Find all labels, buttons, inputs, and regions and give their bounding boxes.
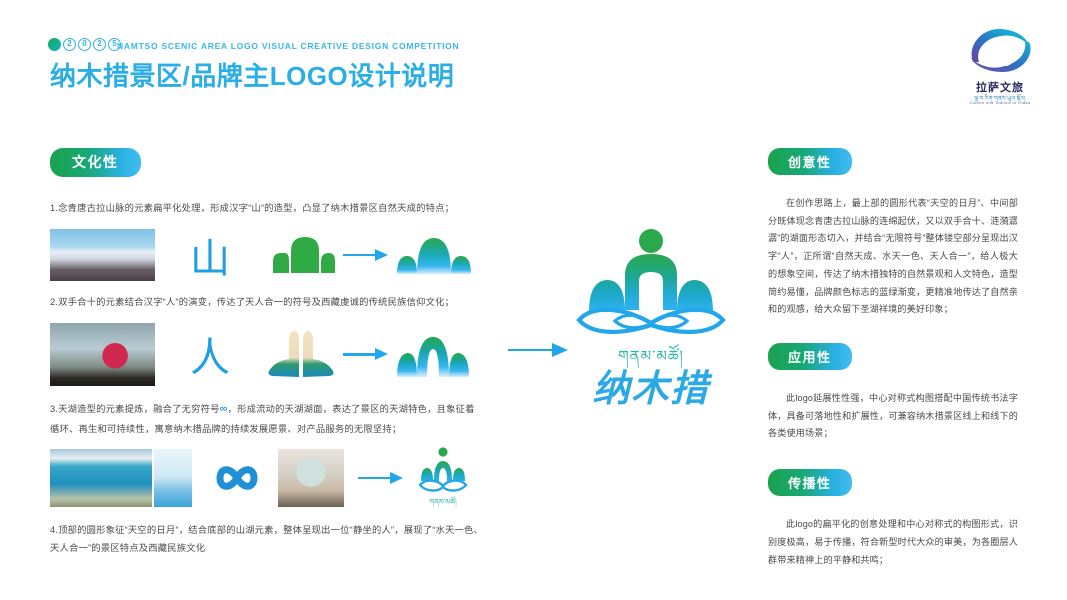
mountain-green-icon	[265, 235, 337, 275]
communication-section: 传播性 此logo的扁平化的创意处理和中心对称式的构图形式，识别度极高，易于传播…	[768, 469, 1018, 569]
infinity-symbol-inline: ∞	[220, 403, 228, 415]
applicability-section: 应用性 此logo延展性性强，中心对称式构图搭配中国传统书法字体，具备可落地性和…	[768, 343, 1018, 443]
culture-item-1-row: 山	[50, 227, 520, 282]
page-title: 纳木措景区/品牌主LOGO设计说明	[50, 56, 454, 93]
namtso-main-logo: གནམ་མཚོ། 纳木措	[563, 228, 739, 413]
arrow-head	[375, 249, 388, 261]
meditation-photo	[278, 449, 344, 507]
culture-column: 文化性 1.念青唐古拉山脉的元素扁平化处理，形成汉字“山”的造型，凸显了纳木措景…	[50, 148, 520, 557]
glyph-shan: 山	[155, 226, 265, 284]
culture-summary-line2: 天人合一”的景区特点及西藏民族文化	[50, 540, 520, 557]
sun-moon-dot	[639, 229, 663, 253]
year-badge-2025: 2 0 2 5	[48, 38, 121, 51]
applicability-body: 此logo延展性性强，中心对称式构图搭配中国传统书法字体，具备可落地性和扩展性，…	[768, 390, 1018, 443]
lhasa-logo-english: Culture and Tourism of Lhasa	[945, 101, 1055, 105]
culture-item-2-text: 2.双手合十的元素结合汉字“人”的演变，传达了天人合一的符号及西藏虔诚的传统民族…	[50, 294, 520, 311]
creativity-section: 创意性 在创作思路上，最上部的圆形代表“天空的日月”、中间部分既体现念青唐古拉山…	[768, 148, 1018, 319]
main-logo-chinese: 纳木措	[563, 358, 739, 412]
mini-logo-preview: གནམ་མཚོ།	[412, 447, 474, 509]
arrow-shaft	[508, 349, 554, 351]
section-pill-applicability: 应用性	[768, 343, 852, 370]
culture-item-2-row: 人	[50, 321, 520, 387]
snow-mountain-photo	[50, 229, 155, 281]
arrow-head	[375, 348, 388, 360]
section-pill-creativity: 创意性	[768, 148, 852, 175]
year-digit: 2	[93, 38, 106, 51]
culture-item-3-row: གནམ་མཚོ།	[50, 447, 520, 509]
infinity-lake-shape	[579, 310, 723, 332]
item3-text-b: ，形成流动的天湖湖面，表达了景区的天湖特色，且象征着	[228, 404, 475, 414]
mini-logo-tibetan: གནམ་མཚོ།	[412, 495, 474, 514]
mountain-gradient-icon	[395, 234, 471, 276]
water-drop-photo	[154, 449, 192, 507]
lhasa-swirl-icon	[963, 22, 1039, 78]
culture-summary-line1: 4.顶部的圆形象征“天空的日月”，结合底部的山湖元素，整体呈现出一位“静坐的人”…	[50, 522, 520, 539]
section-pill-culture: 文化性	[50, 148, 141, 177]
applicability-pill-wrap: 应用性	[768, 343, 1018, 370]
item3-text-a: 3.天湖造型的元素提炼，融合了无穷符号	[50, 404, 220, 414]
culture-item-3-text-line1: 3.天湖造型的元素提炼，融合了无穷符号∞，形成流动的天湖湖面，表达了景区的天湖特…	[50, 399, 520, 419]
glyph-ren: 人	[155, 325, 265, 383]
creativity-pill-wrap: 创意性	[768, 148, 1018, 175]
arrow-shaft	[343, 254, 377, 256]
gradient-dot-icon	[48, 38, 61, 51]
namtso-logo-mark-icon	[563, 228, 739, 344]
culture-item-1-text: 1.念青唐古拉山脉的元素扁平化处理，形成汉字“山”的造型，凸显了纳木措景区自然天…	[50, 200, 520, 217]
arrow-shaft	[343, 353, 377, 355]
arrow-head	[390, 472, 403, 484]
creativity-body: 在创作思路上，最上部的圆形代表“天空的日月”、中间部分既体现念青唐古拉山脉的连绵…	[768, 195, 1018, 319]
culture-item-3-text-line2: 循环、再生和可持续性，寓意纳木措品牌的持续发展愿景、对产品服务的无限坚持；	[50, 421, 520, 438]
lhasa-brand-logo: 拉萨文旅 ལྷ་ས་རིག་གནས་ཡུལ་སྐོར། Culture and …	[945, 22, 1055, 104]
communication-body: 此logo的扁平化的创意处理和中心对称式的构图形式，识别度极高，易于传播，符合新…	[768, 516, 1018, 569]
namtso-lake-photo	[50, 449, 152, 507]
transform-arrow-2	[343, 348, 389, 360]
infinity-icon	[200, 458, 274, 498]
person-gradient-icon	[395, 329, 471, 379]
transform-arrow-3	[358, 472, 404, 484]
header-english-subtitle: NAMTSO SCENIC AREA LOGO VISUAL CREATIVE …	[117, 41, 459, 51]
attributes-column: 创意性 在创作思路上，最上部的圆形代表“天空的日月”、中间部分既体现念青唐古拉山…	[768, 148, 1018, 569]
communication-pill-wrap: 传播性	[768, 469, 1018, 496]
praying-hands-icon	[265, 329, 337, 379]
tibetan-pilgrim-photo	[50, 323, 155, 386]
mini-logo-icon	[412, 447, 474, 499]
arrow-shaft	[358, 477, 392, 479]
section-pill-communication: 传播性	[768, 469, 852, 496]
main-transform-arrow	[508, 343, 570, 357]
culture-pill-wrap: 文化性	[50, 148, 520, 177]
year-digit: 0	[78, 38, 91, 51]
page-header: 2 0 2 5 NAMTSO SCENIC AREA LOGO VISUAL C…	[0, 0, 1067, 118]
year-digit: 2	[63, 38, 76, 51]
transform-arrow-1	[343, 249, 389, 261]
